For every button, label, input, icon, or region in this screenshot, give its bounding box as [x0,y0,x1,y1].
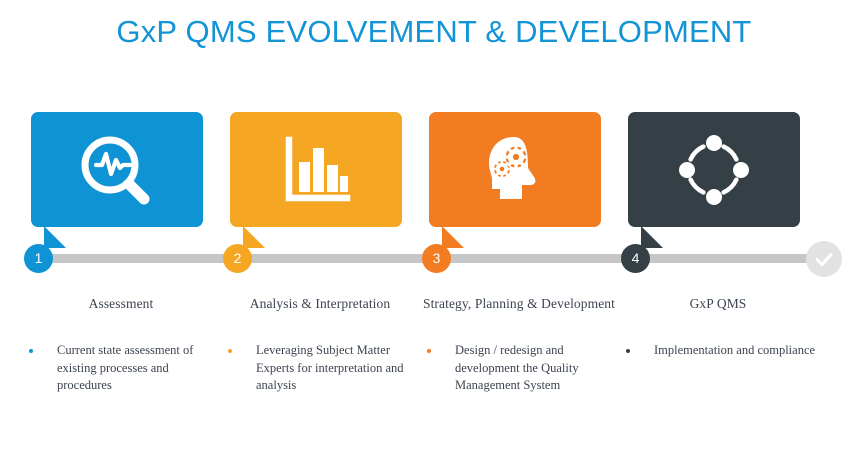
step-bullet-row-2: Leveraging Subject Matter Experts for in… [228,342,420,395]
bullet-dot-icon [228,349,232,353]
step-column-3: 3 Strategy, Planning & Development Desig… [419,0,619,452]
step-bubble-1[interactable] [31,112,203,227]
step-marker-3[interactable]: 3 [422,244,451,273]
dashed-circle-nodes-icon [628,112,800,227]
step-bullet-row-3: Design / redesign and development the Qu… [427,342,619,395]
bullet-dot-icon [626,349,630,353]
step-heading-3: Strategy, Planning & Development [419,295,619,313]
step-marker-4[interactable]: 4 [621,244,650,273]
head-gears-icon [429,112,601,227]
step-bubble-2[interactable] [230,112,402,227]
step-bullet-text-3: Design / redesign and development the Qu… [455,342,619,395]
step-column-4: 4 GxP QMS Implementation and compliance [618,0,818,452]
step-marker-1[interactable]: 1 [24,244,53,273]
step-marker-2[interactable]: 2 [223,244,252,273]
step-heading-4: GxP QMS [618,295,818,313]
magnifier-pulse-icon [31,112,203,227]
step-bullet-text-4: Implementation and compliance [654,342,818,360]
bullet-dot-icon [29,349,33,353]
step-heading-2: Analysis & Interpretation [220,295,420,313]
step-bullet-text-2: Leveraging Subject Matter Experts for in… [256,342,420,395]
step-bubble-4[interactable] [628,112,800,227]
step-bullet-text-1: Current state assessment of existing pro… [57,342,221,395]
timeline-endcap [806,241,842,277]
infographic-canvas: GxP QMS EVOLVEMENT & DEVELOPMENT 1 Asses… [0,0,868,452]
check-icon [813,248,835,270]
step-column-1: 1 Assessment Current state assessment of… [21,0,221,452]
bullet-dot-icon [427,349,431,353]
step-bullet-row-4: Implementation and compliance [626,342,818,360]
step-bubble-3[interactable] [429,112,601,227]
step-bullet-row-1: Current state assessment of existing pro… [29,342,221,395]
bar-chart-icon [230,112,402,227]
step-heading-1: Assessment [21,295,221,313]
step-column-2: 2 Analysis & Interpretation Leveraging S… [220,0,420,452]
